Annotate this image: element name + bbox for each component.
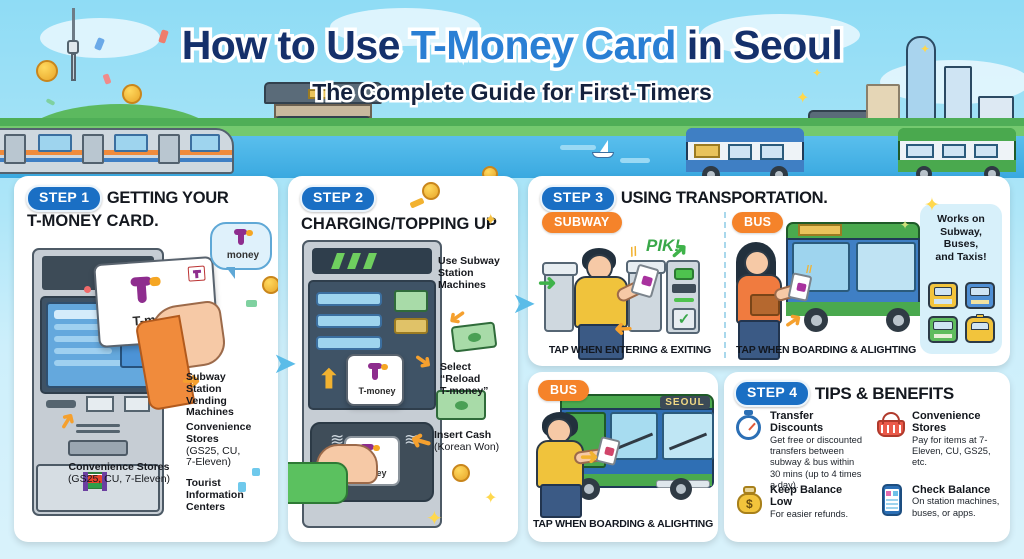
coin-icon [262,276,278,294]
title-highlight: T-Money Card [411,22,676,68]
anno-tourist-info: TouristInformationCenters [186,478,278,513]
boat-icon [592,140,614,158]
page-title: How to Use T-Money Card in Seoul [182,22,843,69]
connector-arrow-2: ➤ [513,288,535,319]
tmoney-mini-logo-icon [188,266,206,282]
step4-header: STEP 4 TIPS & BENEFITS [724,372,1010,407]
bubble-label: money [212,250,274,261]
caption-subway: TAP WHEN ENTERING & EXITING [538,344,722,356]
anno-select-reload: Select“ReloadT-money” [440,362,518,397]
subpanel-subway: SUBWAY ✓ PIK! // ➜ ➜ [538,212,722,360]
tip1-body: Get free or discounted transfers between… [770,435,866,492]
sparkle-icon: ✦ [484,210,497,230]
sparkle-icon: ✦ [484,488,497,508]
step1-title-line1: GETTING YOUR [107,189,229,207]
transport-icons [920,282,1002,343]
green-bus [898,126,1016,178]
step4-title: TIPS & BENEFITS [815,384,954,403]
sparkle-icon: ✦ [924,194,940,217]
page-subtitle: The Complete Guide for First-Timers [312,79,712,106]
basket-icon [876,410,906,440]
confetti [252,468,260,476]
header-scene: ✦ ✦ ✦ How to Use T-Money Card in Seoul T… [0,0,1024,178]
anno-convenience-right: ConvenienceStores(GS25, CU,7-Eleven) [186,422,278,469]
step1-badge: STEP 1 [26,185,102,212]
stopwatch-icon [734,410,764,440]
tram-icon [928,282,958,309]
anno-subway-vending: SubwayStationVendingMachines [186,372,278,419]
tip-check-balance: Check Balance On station machines, buses… [876,484,1002,519]
tip-convenience-stores: Convenience Stores Pay for items at 7-El… [876,410,1002,469]
title-part1: How to Use [182,22,411,68]
sleeve [288,462,348,504]
tmoney-card-floating: T-money [346,354,404,406]
connector-arrow-1: ➤ [274,348,296,379]
works-on-box: Works onSubway,Buses,and Taxis! [920,204,1002,354]
subway-badge: SUBWAY [542,212,622,233]
bus-badge: BUS [732,212,783,233]
tip-keep-balance-low: $ Keep Balance Low For easier refunds. [734,484,866,520]
green-band-dark [0,118,1024,126]
tip4-title: Check Balance [912,484,1002,496]
tip4-body: On station machines, buses, or apps. [912,496,1002,519]
anno-use-subway-machines: Use SubwayStationMachines [438,256,518,291]
taxi-icon [965,316,995,343]
blue-bus [686,124,804,178]
tip1-title: Transfer Discounts [770,410,866,435]
tip-transfer-discounts: Transfer Discounts Get free or discounte… [734,410,866,491]
bus-badge-2: BUS [538,380,589,401]
anno-insert-cash: Insert Cash(Korean Won) [434,430,518,454]
tmoney-logo-icon [130,276,162,304]
tip3-title: Keep Balance Low [770,484,866,509]
step3-badge: STEP 3 [540,185,616,212]
title-part2: in Seoul [676,22,842,68]
bus-green-icon [928,316,958,343]
speech-bubble: money [210,222,272,270]
floating-card-label: T-money [348,386,406,396]
divider [724,212,726,358]
bus-destination-sign: SEOUL [660,396,710,409]
bus-blue-icon [965,282,995,309]
panel-bus-boarding: BUS SEOUL ➜ TAP WHEN BOARDING & ALIGHTIN… [528,372,718,542]
panel-step-3: STEP 3 USING TRANSPORTATION. SUBWAY ✓ [528,176,1010,366]
sparkle-icon: ✦ [900,218,910,232]
subway-train [0,128,234,178]
works-on-text: Works onSubway,Buses,and Taxis! [920,213,1002,263]
sparkle-icon: ✦ [426,506,443,531]
step2-badge: STEP 2 [300,185,376,212]
water-ripple [620,158,650,163]
caption-bus: TAP WHEN BOARDING & ALIGHTING [728,344,924,356]
tmoney-logo-icon [234,229,252,245]
panel-step-4: STEP 4 TIPS & BENEFITS Transfer Discount… [724,372,1010,542]
coin-icon [422,182,440,200]
tip2-body: Pay for items at 7-Eleven, CU, GS25, etc… [912,435,1002,469]
subpanel-bus: BUS // ➜ TAP W [728,212,918,360]
dot [84,286,91,293]
title-block: How to Use T-Money Card in Seoul The Com… [0,22,1024,106]
step4-badge: STEP 4 [734,380,810,407]
step3-title: USING TRANSPORTATION. [621,189,828,207]
money-bag-icon: $ [734,484,764,514]
panel-step-1: STEP 1 GETTING YOUR T-MONEY CARD. [14,176,278,542]
phone-icon [876,484,906,514]
tip3-body: For easier refunds. [770,509,866,520]
confetti [246,300,257,307]
tip2-title: Convenience Stores [912,410,1002,435]
anno-convenience-bottom: Convenience Stores(GS25, CU, 7-Eleven) [54,462,184,486]
infographic-canvas: ✦ ✦ ✦ How to Use T-Money Card in Seoul T… [0,0,1024,559]
coin-icon [452,464,470,482]
water-ripple [560,145,596,150]
caption-bus-boarding: TAP WHEN BOARDING & ALIGHTING [528,518,718,530]
panel-step-2: STEP 2 CHARGING/TOPPING UP ⬆ mon [288,176,518,542]
